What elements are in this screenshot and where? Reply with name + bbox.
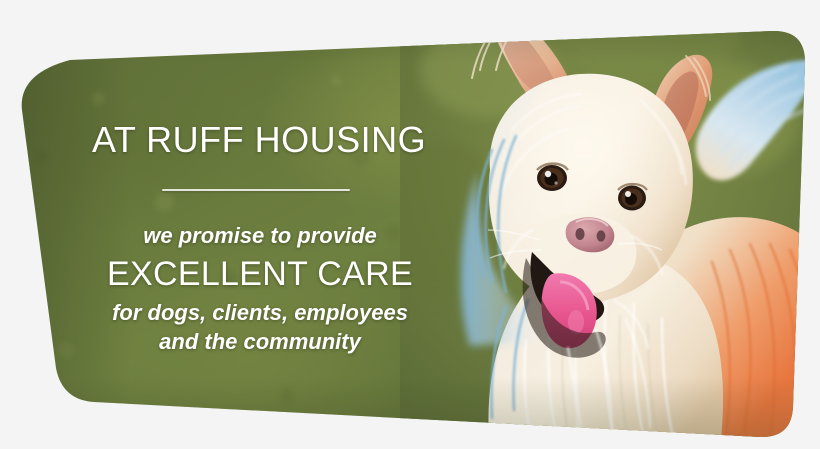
promise-banner: AT RUFF HOUSING we promise to provide EX… bbox=[0, 0, 820, 449]
detail-lines: for dogs, clients, employees and the com… bbox=[0, 298, 520, 356]
banner-stage: AT RUFF HOUSING we promise to provide EX… bbox=[0, 0, 820, 449]
detail-line-2: and the community bbox=[0, 327, 520, 356]
emphasis-line: EXCELLENT CARE bbox=[0, 255, 520, 294]
promise-line: we promise to provide bbox=[0, 224, 520, 248]
divider-rule bbox=[162, 189, 350, 191]
banner-headline: AT RUFF HOUSING bbox=[92, 122, 512, 158]
detail-line-1: for dogs, clients, employees bbox=[0, 298, 520, 327]
